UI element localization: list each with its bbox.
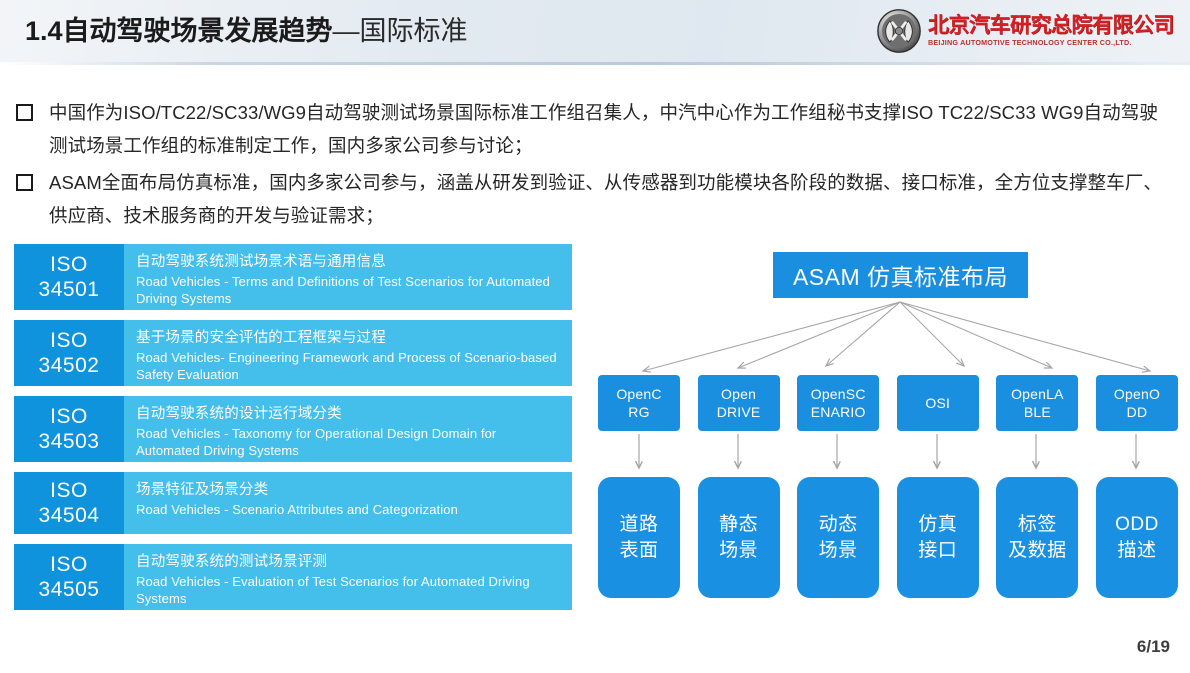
- list-item: 中国作为ISO/TC22/SC33/WG9自动驾驶测试场景国际标准工作组召集人，…: [16, 96, 1176, 162]
- page-title-main: 1.4自动驾驶场景发展趋势: [25, 16, 333, 46]
- iso-tag: ISO 34503: [14, 396, 124, 462]
- iso-standard-row: ISO 34505 自动驾驶系统的测试场景评测 Road Vehicles - …: [14, 544, 572, 610]
- asam-domain-box-static-scene[interactable]: 静态场景: [698, 477, 780, 598]
- asam-standard-box-opencrg[interactable]: OpenCRG: [598, 375, 680, 431]
- square-bullet-icon: [16, 174, 33, 191]
- bullet-list: 中国作为ISO/TC22/SC33/WG9自动驾驶测试场景国际标准工作组召集人，…: [16, 96, 1176, 236]
- iso-number: 34504: [39, 503, 100, 528]
- asam-domain-box-odd-desc[interactable]: ODD描述: [1096, 477, 1178, 598]
- company-emblem-icon: [876, 8, 922, 54]
- list-item: ASAM全面布局仿真标准，国内多家公司参与，涵盖从研发到验证、从传感器到功能模块…: [16, 166, 1176, 232]
- iso-tag: ISO 34502: [14, 320, 124, 386]
- logo-name-en: BEIJING AUTOMOTIVE TECHNOLOGY CENTER CO.…: [928, 39, 1174, 46]
- iso-standard-row: ISO 34502 基于场景的安全评估的工程框架与过程 Road Vehicle…: [14, 320, 572, 386]
- page-title: 1.4自动驾驶场景发展趋势—国际标准: [25, 14, 468, 48]
- iso-title-en: Road Vehicles - Scenario Attributes and …: [136, 501, 562, 518]
- iso-prefix: ISO: [50, 404, 88, 429]
- iso-standard-row: ISO 34501 自动驾驶系统测试场景术语与通用信息 Road Vehicle…: [14, 244, 572, 310]
- asam-standard-box-openlabel[interactable]: OpenLABLE: [996, 375, 1078, 431]
- iso-prefix: ISO: [50, 252, 88, 277]
- iso-prefix: ISO: [50, 552, 88, 577]
- iso-standards-list: ISO 34501 自动驾驶系统测试场景术语与通用信息 Road Vehicle…: [14, 244, 572, 620]
- iso-title-en: Road Vehicles - Evaluation of Test Scena…: [136, 573, 562, 607]
- iso-description: 基于场景的安全评估的工程框架与过程 Road Vehicles- Enginee…: [124, 320, 572, 386]
- iso-description: 场景特征及场景分类 Road Vehicles - Scenario Attri…: [124, 472, 572, 534]
- asam-title-box: ASAM 仿真标准布局: [773, 252, 1028, 298]
- iso-description: 自动驾驶系统测试场景术语与通用信息 Road Vehicles - Terms …: [124, 244, 572, 310]
- iso-title-cn: 基于场景的安全评估的工程框架与过程: [136, 328, 562, 348]
- iso-number: 34502: [39, 353, 100, 378]
- page-title-sub: —国际标准: [333, 16, 468, 46]
- bullet-text-1: 中国作为ISO/TC22/SC33/WG9自动驾驶测试场景国际标准工作组召集人，…: [49, 96, 1176, 162]
- asam-domain-box-sim-interface[interactable]: 仿真接口: [897, 477, 979, 598]
- iso-standard-row: ISO 34503 自动驾驶系统的设计运行域分类 Road Vehicles -…: [14, 396, 572, 462]
- asam-standard-box-openodd[interactable]: OpenODD: [1096, 375, 1178, 431]
- page-number: 6/19: [1137, 637, 1170, 657]
- bullet-text-2: ASAM全面布局仿真标准，国内多家公司参与，涵盖从研发到验证、从传感器到功能模块…: [49, 166, 1176, 232]
- square-bullet-icon: [16, 104, 33, 121]
- iso-prefix: ISO: [50, 328, 88, 353]
- iso-description: 自动驾驶系统的测试场景评测 Road Vehicles - Evaluation…: [124, 544, 572, 610]
- iso-tag: ISO 34504: [14, 472, 124, 534]
- iso-tag: ISO 34501: [14, 244, 124, 310]
- asam-diagram: ASAM 仿真标准布局 OpenCRG OpenDRIVE OpenSCENAR…: [598, 244, 1178, 644]
- asam-standards-row: OpenCRG OpenDRIVE OpenSCENARIO OSI OpenL…: [598, 375, 1178, 431]
- asam-domain-box-road-surface[interactable]: 道路表面: [598, 477, 680, 598]
- iso-number: 34503: [39, 429, 100, 454]
- iso-number: 34501: [39, 277, 100, 302]
- down-arrows: [598, 430, 1178, 480]
- iso-standard-row: ISO 34504 场景特征及场景分类 Road Vehicles - Scen…: [14, 472, 572, 534]
- iso-title-cn: 自动驾驶系统的测试场景评测: [136, 552, 562, 572]
- header-divider: [0, 62, 1190, 65]
- iso-prefix: ISO: [50, 478, 88, 503]
- asam-standard-box-opendrive[interactable]: OpenDRIVE: [698, 375, 780, 431]
- fan-out-arrows: [598, 296, 1178, 384]
- iso-title-en: Road Vehicles - Terms and Definitions of…: [136, 273, 562, 307]
- logo-wordmark: 北京汽车研究总院有限公司 BEIJING AUTOMOTIVE TECHNOLO…: [928, 15, 1174, 46]
- asam-standard-box-openscenario[interactable]: OpenSCENARIO: [797, 375, 879, 431]
- iso-title-cn: 自动驾驶系统测试场景术语与通用信息: [136, 252, 562, 272]
- logo-name-cn: 北京汽车研究总院有限公司: [928, 15, 1174, 36]
- iso-title-cn: 自动驾驶系统的设计运行域分类: [136, 404, 562, 424]
- iso-title-cn: 场景特征及场景分类: [136, 480, 562, 500]
- asam-domains-row: 道路表面 静态场景 动态场景 仿真接口 标签及数据 ODD描述: [598, 477, 1178, 598]
- iso-number: 34505: [39, 577, 100, 602]
- asam-domain-box-label-data[interactable]: 标签及数据: [996, 477, 1078, 598]
- company-logo: 北京汽车研究总院有限公司 BEIJING AUTOMOTIVE TECHNOLO…: [876, 8, 1176, 54]
- iso-tag: ISO 34505: [14, 544, 124, 610]
- asam-standard-box-osi[interactable]: OSI: [897, 375, 979, 431]
- iso-title-en: Road Vehicles- Engineering Framework and…: [136, 349, 562, 383]
- iso-title-en: Road Vehicles - Taxonomy for Operational…: [136, 425, 562, 459]
- iso-description: 自动驾驶系统的设计运行域分类 Road Vehicles - Taxonomy …: [124, 396, 572, 462]
- asam-domain-box-dynamic-scene[interactable]: 动态场景: [797, 477, 879, 598]
